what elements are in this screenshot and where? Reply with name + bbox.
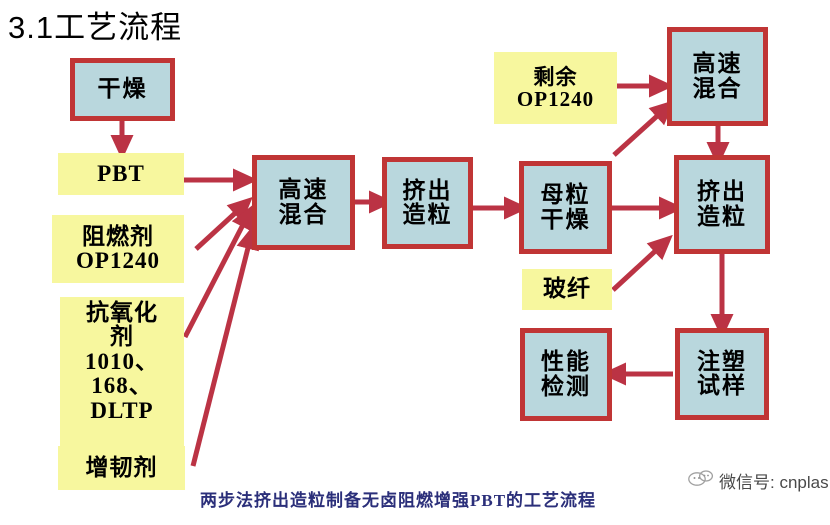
edge-masterbatch-mix2 [614, 108, 666, 155]
node-performance-testing[interactable]: 性能 检测 [520, 328, 612, 421]
edge-toughener-mix1 [193, 236, 251, 466]
node-drying[interactable]: 干燥 [70, 58, 175, 121]
cloud-chat-logo-icon [688, 468, 714, 493]
edge-flame-mix1 [196, 205, 244, 249]
node-extrusion-granulation-2[interactable]: 挤出 造粒 [674, 155, 770, 254]
node-extrusion-granulation-1[interactable]: 挤出 造粒 [382, 157, 473, 249]
node-flame-retardant[interactable]: 阻燃剂 OP1240 [52, 215, 184, 283]
edge-antioxidant-mix1 [185, 215, 248, 337]
node-high-speed-mixing-2[interactable]: 高速 混合 [667, 27, 768, 126]
node-pbt[interactable]: PBT [58, 153, 184, 195]
watermark: 微信号: cnplas [688, 468, 829, 493]
flowchart-canvas: 3.1工艺流程 [0, 0, 830, 525]
node-injection-molded-sample[interactable]: 注塑 试样 [675, 328, 769, 420]
node-toughener[interactable]: 增韧剂 [58, 446, 185, 490]
watermark-text: 微信号: cnplas [719, 468, 829, 493]
node-high-speed-mixing-1[interactable]: 高速 混合 [252, 155, 355, 250]
figure-caption: 两步法挤出造粒制备无卤阻燃增强PBT的工艺流程 [200, 486, 596, 511]
edge-glassfiber-extrude2 [613, 243, 664, 290]
node-remaining-op1240[interactable]: 剩余 OP1240 [494, 52, 617, 124]
node-antioxidant[interactable]: 抗氧化 剂 1010、 168、 DLTP [60, 297, 184, 453]
node-masterbatch-drying[interactable]: 母粒 干燥 [519, 161, 612, 254]
page-title: 3.1工艺流程 [8, 2, 182, 47]
node-glass-fiber[interactable]: 玻纤 [522, 269, 612, 310]
